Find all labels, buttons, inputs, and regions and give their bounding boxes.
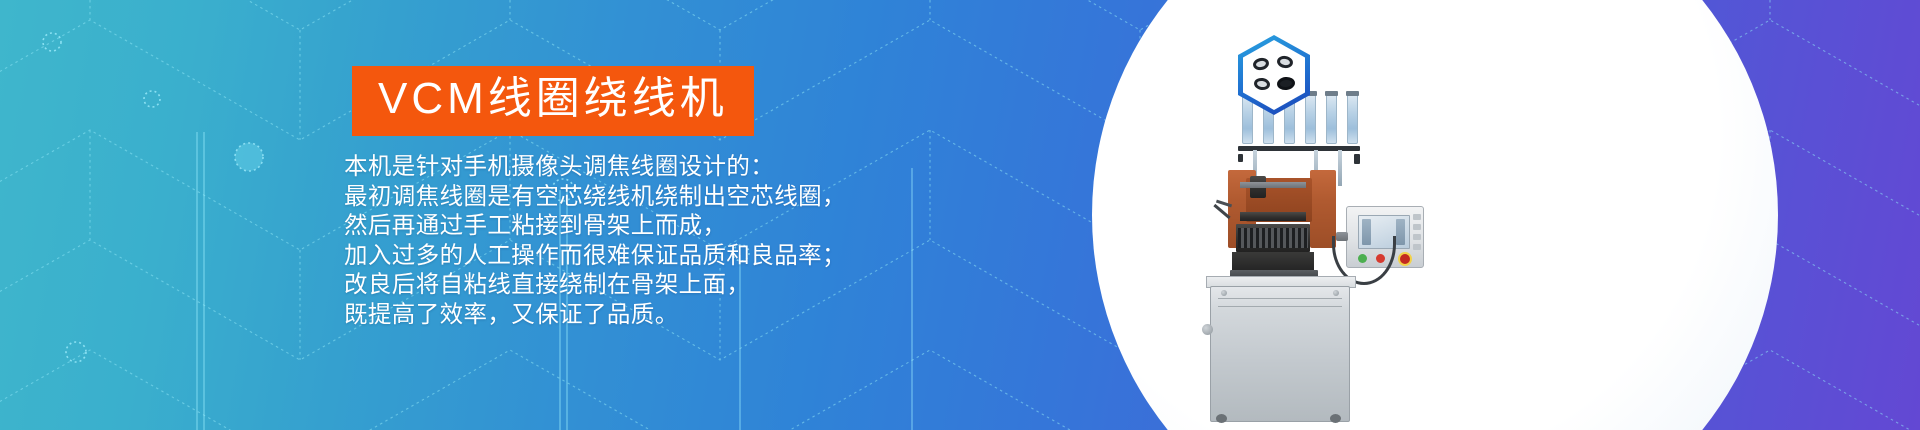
coil-icon-3 [1253, 77, 1271, 91]
description-line-5: 改良后将自粘线直接绕制在骨架上面， [344, 270, 846, 300]
description-line-1: 本机是针对手机摄像头调焦线圈设计的： [344, 152, 846, 182]
coil-icon-2 [1276, 55, 1294, 70]
product-banner: VCM线圈绕线机 本机是针对手机摄像头调焦线圈设计的： 最初调焦线圈是有空芯绕线… [0, 0, 1920, 430]
coil-icon-1 [1252, 56, 1270, 71]
coil-sample-badge [1238, 35, 1310, 115]
description-line-6: 既提高了效率，又保证了品质。 [344, 300, 846, 330]
winding-machine-photo [1186, 84, 1436, 332]
description-line-2: 最初调焦线圈是有空芯绕线机绕制出空芯线圈， [344, 182, 846, 212]
description-line-3: 然后再通过手工粘接到骨架上而成， [344, 211, 846, 241]
product-description: 本机是针对手机摄像头调焦线圈设计的： 最初调焦线圈是有空芯绕线机绕制出空芯线圈，… [344, 152, 846, 330]
coil-icon-4 [1276, 76, 1295, 91]
product-title-box: VCM线圈绕线机 [352, 66, 754, 136]
description-line-4: 加入过多的人工操作而很难保证品质和良品率； [344, 241, 846, 271]
page-title: VCM线圈绕线机 [378, 77, 728, 121]
